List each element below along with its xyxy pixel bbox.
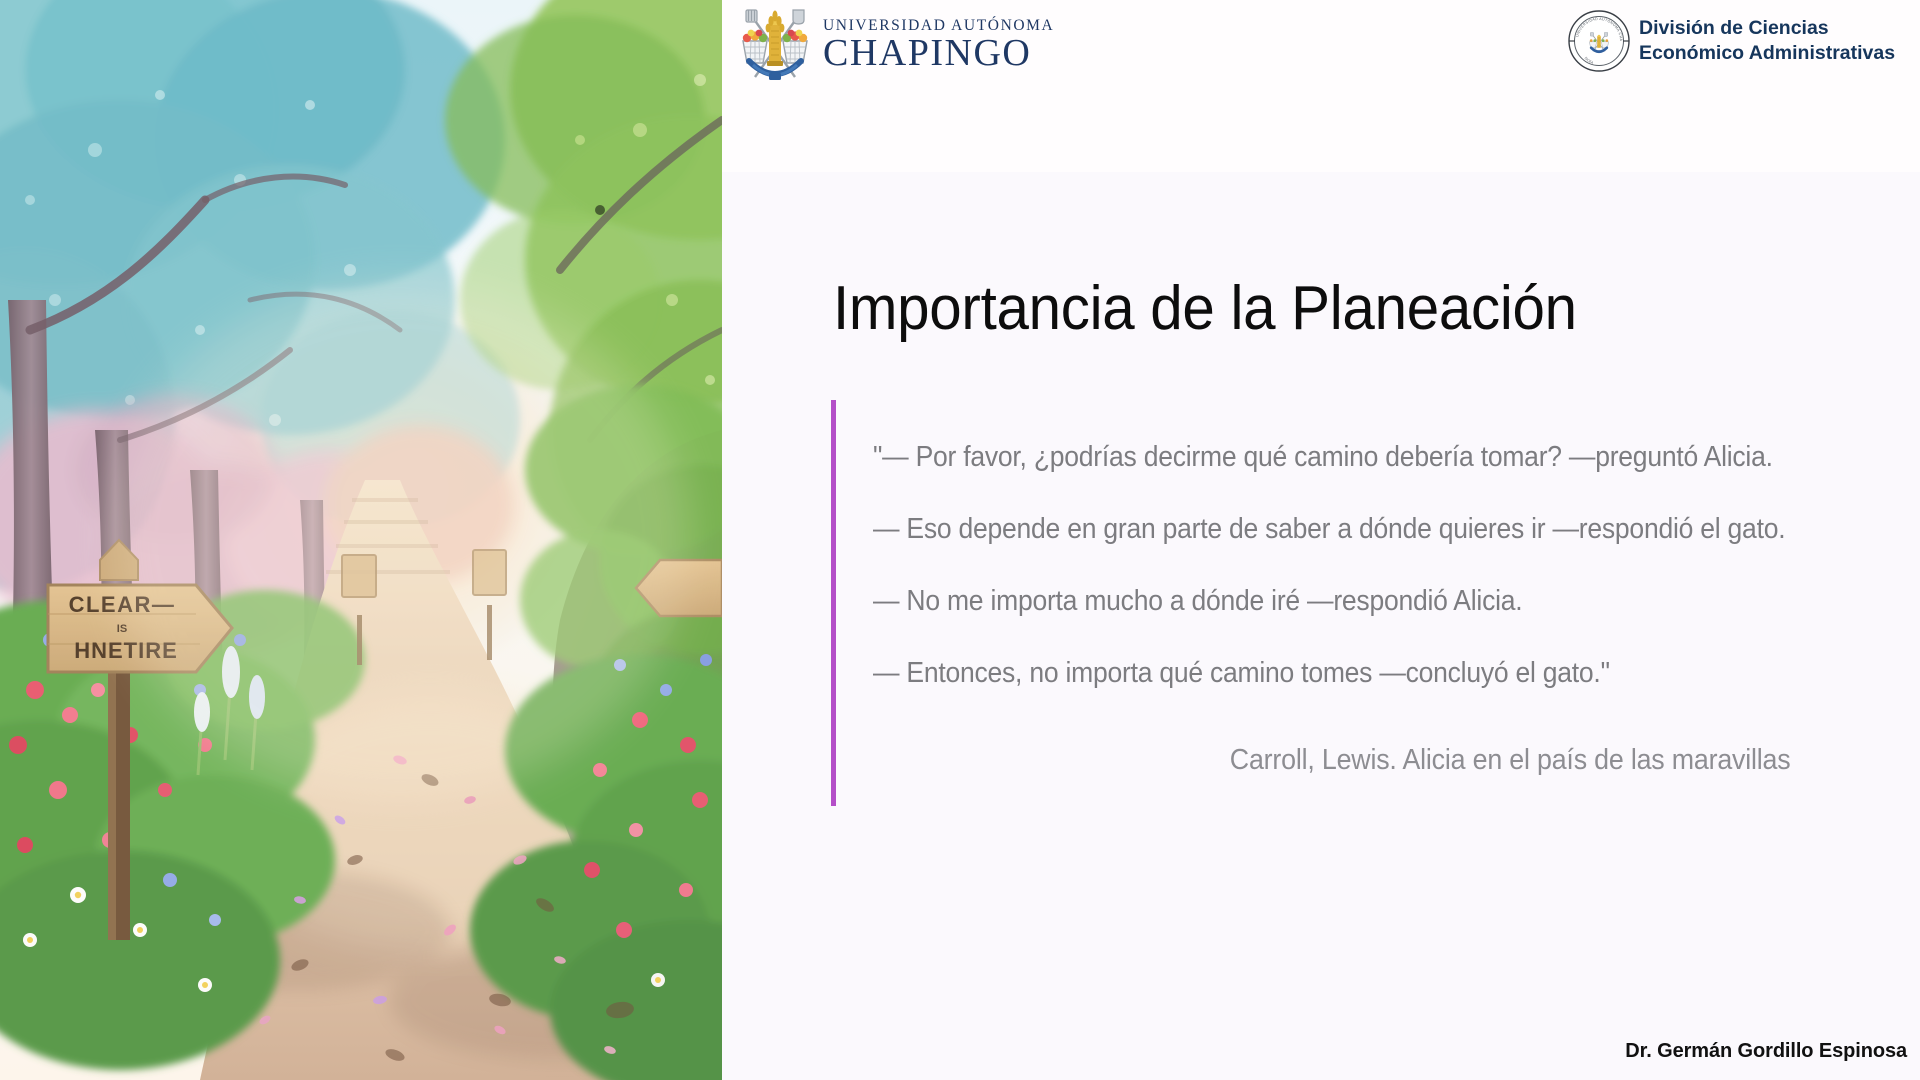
slide: CLEAR— IS HNETIRE [0,0,1920,1080]
quote-line: — Entonces, no importa qué camino tomes … [873,654,1766,726]
quote-line: "— Por favor, ¿podrías decirme qué camin… [873,438,1766,510]
chapingo-logo-line2: CHAPINGO [823,34,1054,72]
slide-title: Importancia de la Planeación [833,273,1577,344]
quote-block: "— Por favor, ¿podrías decirme qué camin… [873,438,1833,726]
chapingo-emblem-icon [735,7,815,83]
quote-line: — Eso depende en gran parte de saber a d… [873,510,1766,582]
division-seal-icon: UNIVERSIDAD AUTÓNOMA CHAPINGO DICEA [1568,10,1630,72]
chapingo-logo: UNIVERSIDAD AUTÓNOMA CHAPINGO [735,6,1035,84]
forest-path-illustration: CLEAR— IS HNETIRE [0,0,722,1080]
quote-attribution-text: Carroll, Lewis. Alicia en el país de las… [1229,744,1790,777]
division-logo-line2: Económico Administrativas [1639,42,1895,64]
division-logo-text: División de Ciencias Económico Administr… [1639,16,1895,66]
division-logo: UNIVERSIDAD AUTÓNOMA CHAPINGO DICEA [1568,10,1913,72]
footer-author: Dr. Germán Gordillo Espinosa [1625,1040,1907,1063]
chapingo-logo-line1: UNIVERSIDAD AUTÓNOMA [823,18,1054,34]
quote-line: — No me importa mucho a dónde iré —respo… [873,582,1766,654]
division-logo-line1: División de Ciencias [1639,17,1829,39]
quote-attribution: Carroll, Lewis. Alicia en el país de las… [873,744,1833,777]
quote-accent-bar [831,400,836,806]
